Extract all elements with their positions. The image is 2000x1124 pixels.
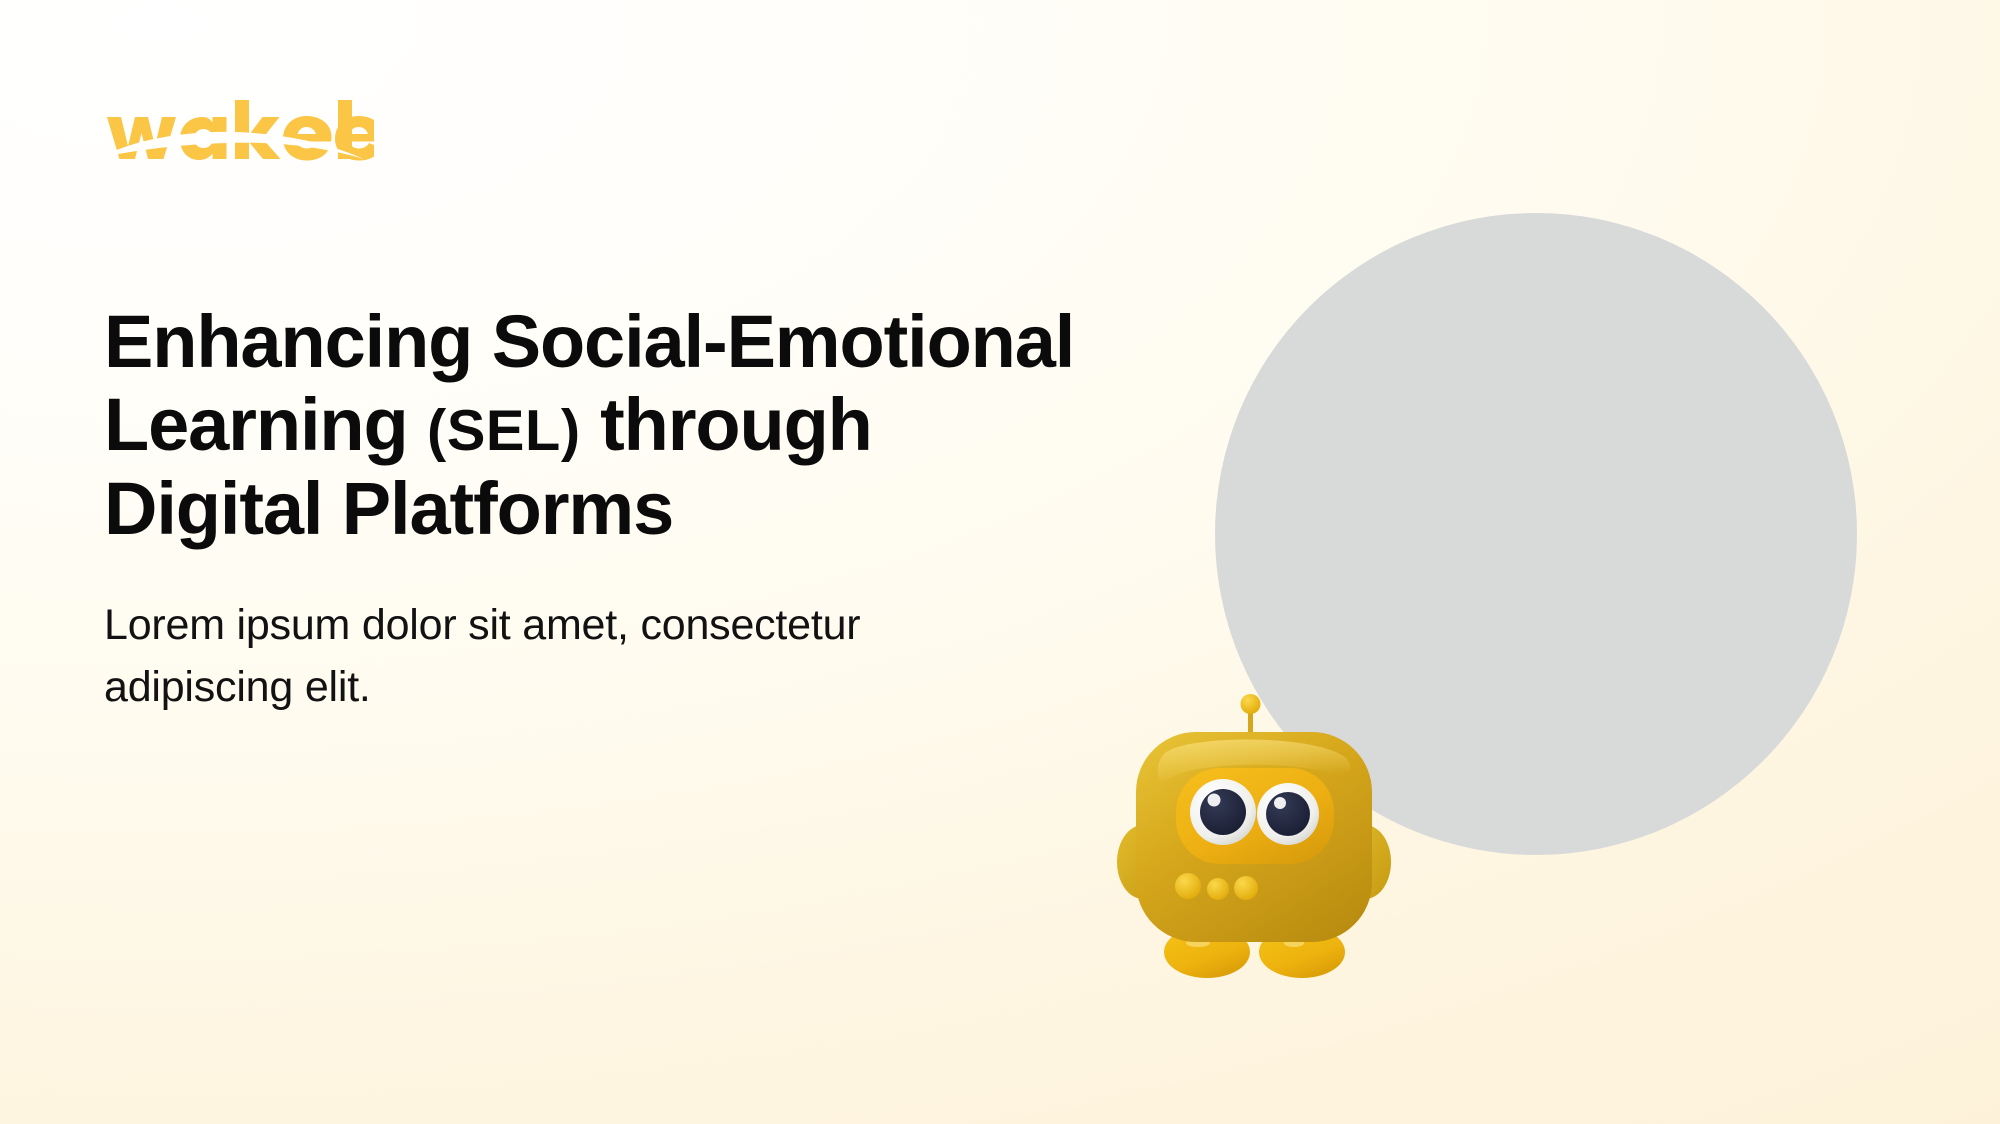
robot-left-pupil [1200, 789, 1246, 835]
robot-chest-button-2[interactable] [1207, 878, 1229, 900]
robot-chest-button-3[interactable] [1234, 876, 1258, 900]
robot-mascot-icon [1118, 690, 1390, 990]
page-title: Emotional Learning Enhancing Social-Emot… [104, 300, 1104, 550]
headline-text-main: Enhancing Social-Emotional Learning (SEL… [104, 300, 1074, 550]
slide-text-block: Emotional Learning Enhancing Social-Emot… [104, 300, 1114, 718]
robot-mascot [1118, 690, 1390, 990]
headline-segment-1: Enhancing Social- [104, 300, 727, 383]
robot-right-pupil [1266, 792, 1310, 836]
presentation-slide: Emotional Learning Enhancing Social-Emot… [0, 0, 2000, 1124]
subtitle-line-1: Lorem ipsum dolor sit amet, [104, 601, 629, 649]
robot-left-eye-highlight [1208, 794, 1221, 807]
antenna-ball [1241, 694, 1261, 714]
headline-abbreviation: (SEL) [427, 399, 581, 463]
wakelet-logo[interactable] [104, 100, 374, 162]
wakelet-wordmark-icon [104, 100, 374, 162]
robot-right-eye-highlight [1274, 797, 1286, 809]
page-subtitle: Lorem ipsum dolor sit amet, consectetur … [104, 594, 864, 719]
robot-chest-button-1[interactable] [1175, 873, 1201, 899]
